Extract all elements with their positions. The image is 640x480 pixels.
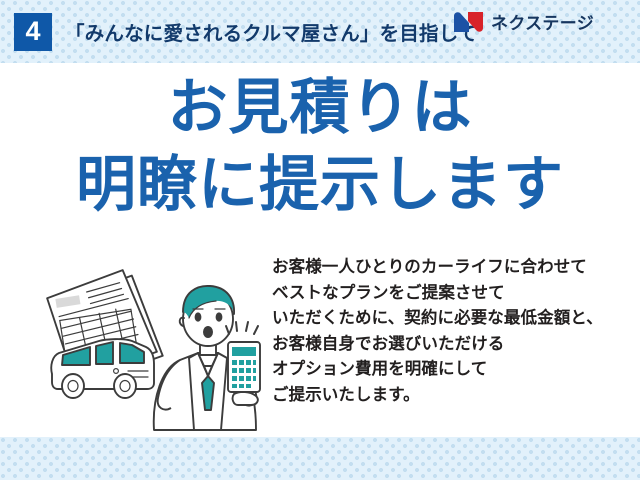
headline: お見積りは 明瞭に提示します bbox=[0, 78, 640, 215]
body-line-4: お客様自身でお選びいただける bbox=[272, 332, 632, 358]
body-line-1: お客様一人ひとりのカーライフに合わせて bbox=[272, 255, 632, 281]
body-line-5: オプション費用を明確にして bbox=[272, 357, 632, 383]
body-line-6: ご提示いたします。 bbox=[272, 383, 632, 409]
body-line-2: ベストなプランをご提案させて bbox=[272, 281, 632, 307]
headline-line-2: 明瞭に提示します bbox=[0, 155, 640, 215]
body-line-3: いただくために、契約に必要な最低金額と、 bbox=[272, 306, 632, 332]
footer-band bbox=[0, 437, 640, 480]
advertisement-banner: 4 「みんなに愛されるクルマ屋さん」を目指して お見積りは 明瞭に提示します お… bbox=[0, 0, 640, 480]
brand-name: ネクステージ bbox=[491, 9, 594, 34]
body-paragraph: お客様一人ひとりのカーライフに合わせて ベストなプランをご提案させて いただくた… bbox=[272, 255, 632, 408]
headline-line-1: お見積りは bbox=[0, 78, 640, 138]
header-title: 「みんなに愛されるクルマ屋さん」を目指して bbox=[65, 17, 478, 46]
footer: ネクステージ bbox=[453, 0, 594, 43]
section-number-badge: 4 bbox=[14, 13, 52, 51]
nextage-logo-icon bbox=[453, 11, 484, 33]
salesman-illustration: .ln { fill:none; stroke:#3c3c3c; stroke-… bbox=[28, 252, 268, 432]
calculator-icon bbox=[226, 322, 260, 392]
